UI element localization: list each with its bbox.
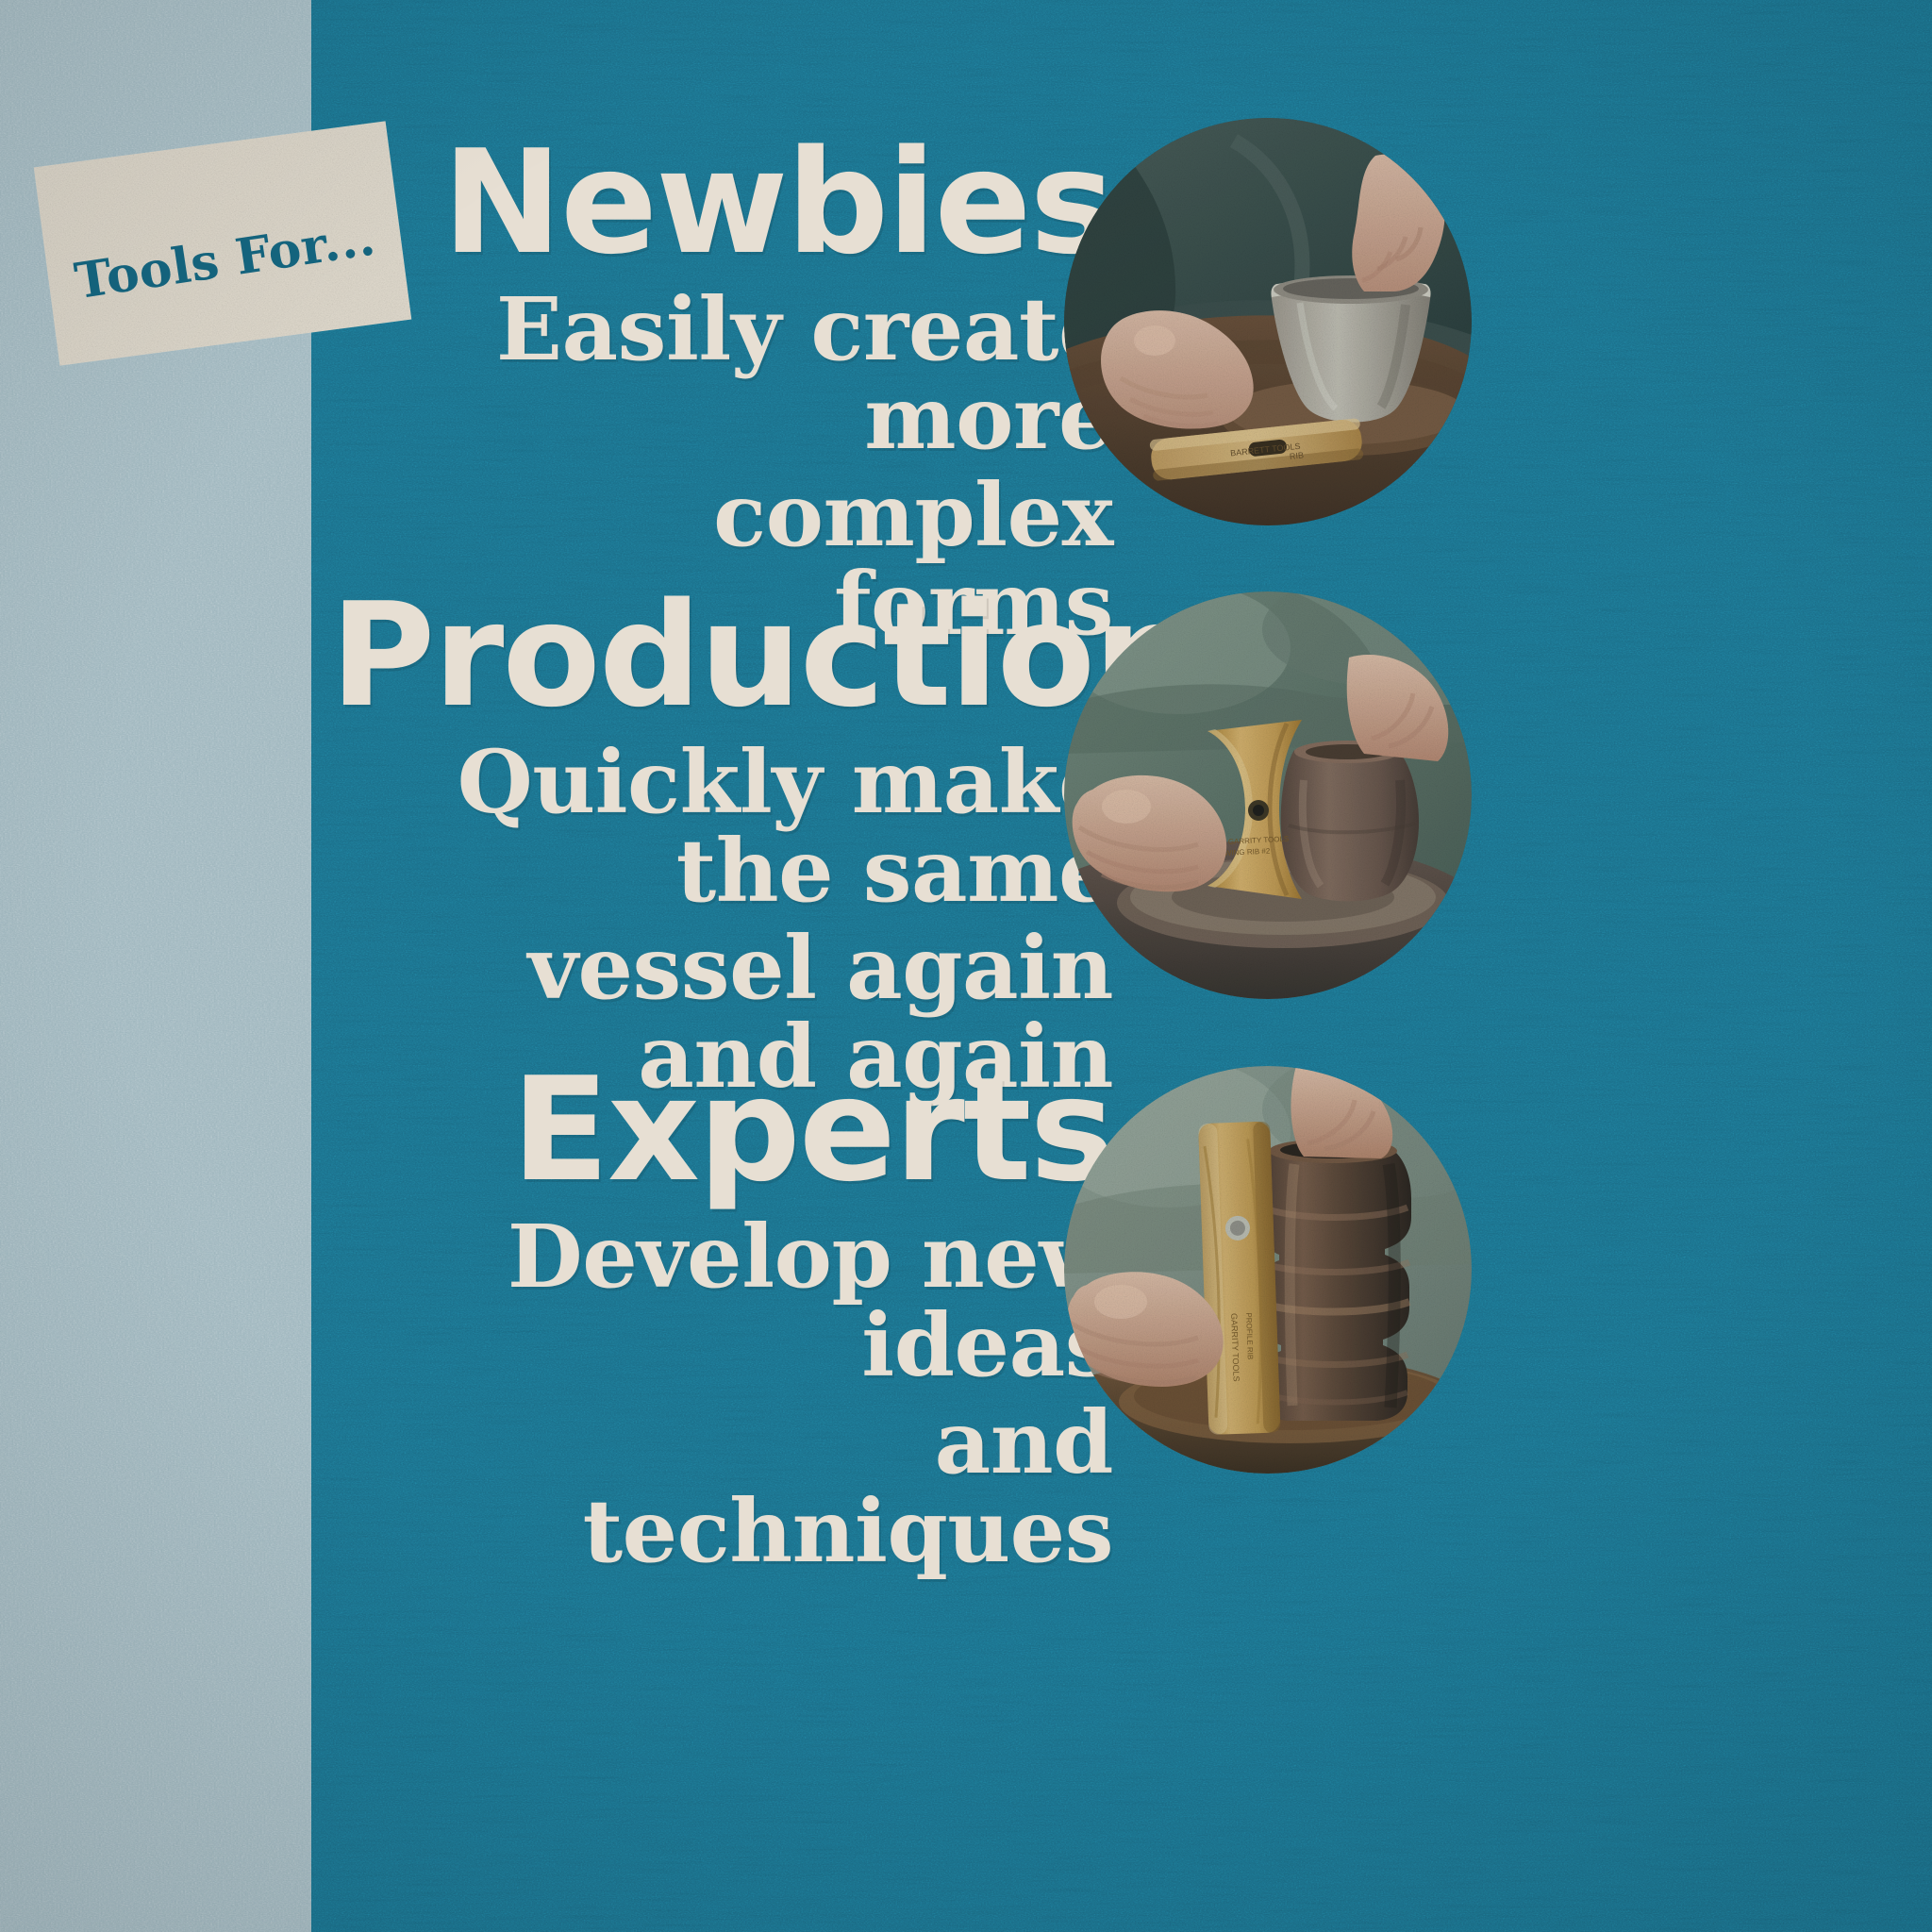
photo-experts[interactable]: GARRITY TOOLS PROFILE RIB	[1064, 1066, 1472, 1474]
photo-newbies-illustration: BARRETT TOOLS RIB	[1064, 118, 1472, 525]
photo-production-illustration: GARRITY TOOLS WING RIB #2	[1064, 591, 1472, 999]
experts-heading: Experts	[415, 1064, 1113, 1196]
photo-newbies[interactable]: BARRETT TOOLS RIB	[1064, 118, 1472, 525]
poster-canvas: Tools For... Newbies Easily create more …	[0, 0, 1932, 1932]
experts-text-block: Experts Develop new ideas and techniques	[415, 1064, 1113, 1576]
newbies-heading: Newbies	[415, 137, 1113, 269]
experts-body-line-1: Develop new ideas	[415, 1213, 1113, 1391]
production-heading: Production	[330, 590, 1113, 722]
photo-production[interactable]: GARRITY TOOLS WING RIB #2	[1064, 591, 1472, 999]
production-body-line-1: Quickly make the same	[330, 739, 1113, 916]
photo-experts-illustration: GARRITY TOOLS PROFILE RIB	[1064, 1066, 1472, 1474]
production-text-block: Production Quickly make the same vessel …	[330, 590, 1113, 1102]
experts-body-line-2: and techniques	[415, 1399, 1113, 1576]
newbies-body-line-1: Easily create more	[415, 286, 1113, 463]
